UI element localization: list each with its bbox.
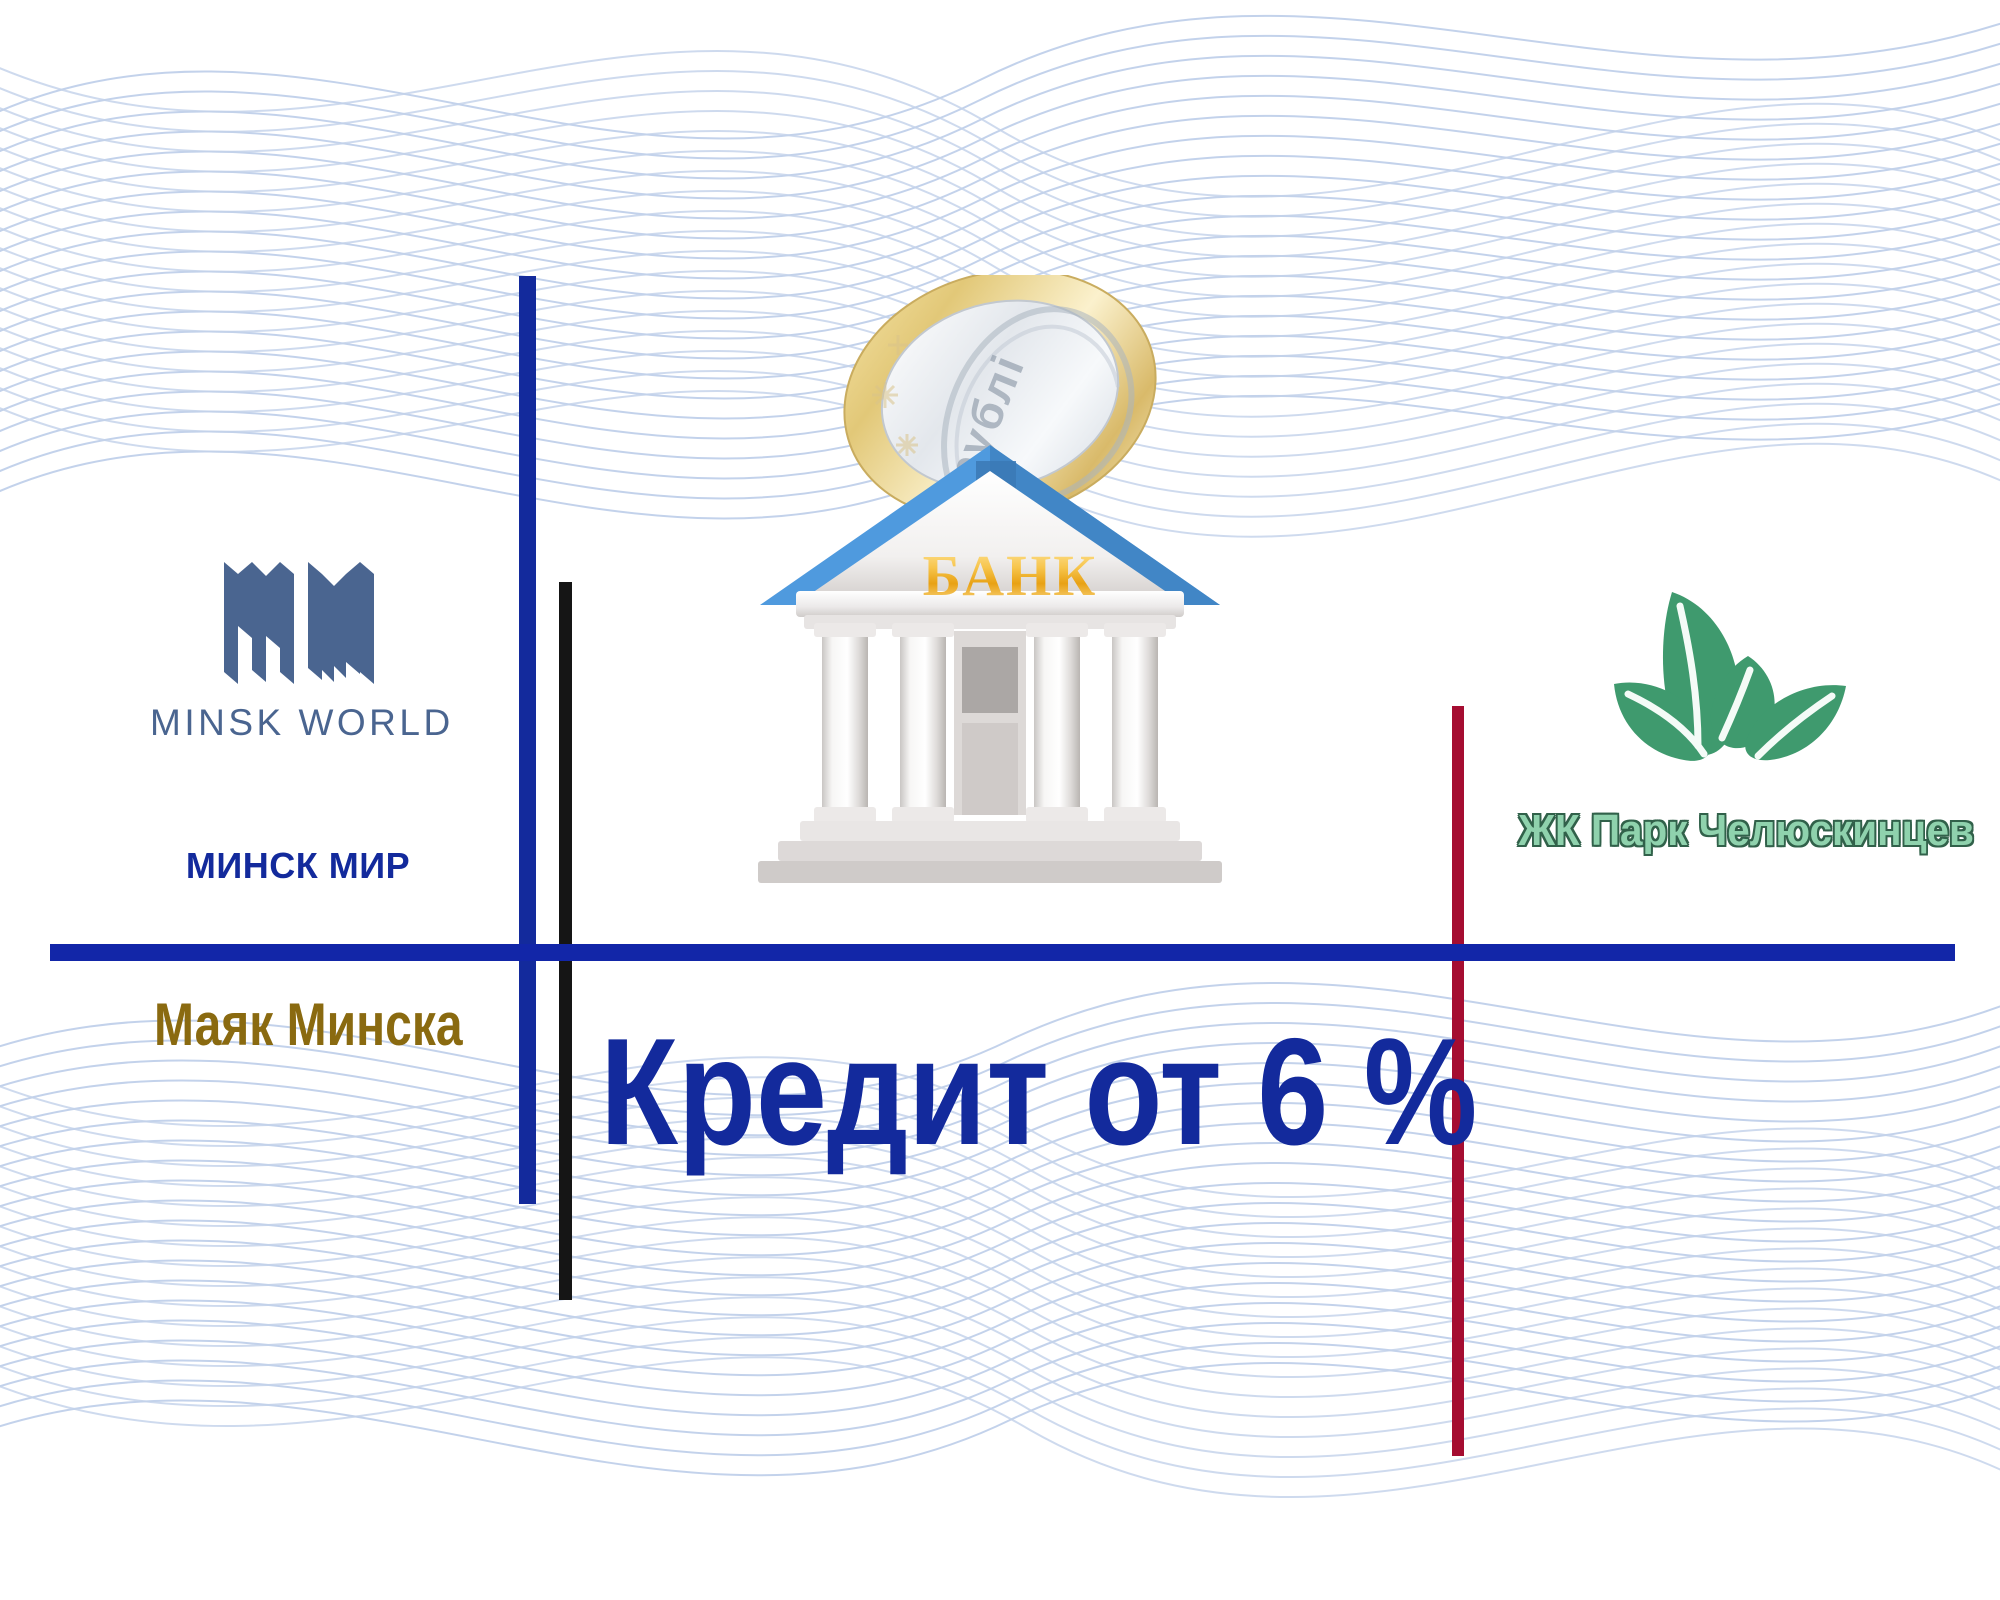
- park-chelyuskintsev-brand-block: ЖК Парк Челюскинцев: [1500, 570, 1960, 856]
- mw-monogram-icon: [214, 552, 386, 692]
- minsk-world-brand-block: MINSK WORLD: [150, 552, 450, 744]
- horizontal-divider-blue: [50, 944, 1955, 961]
- promo-banner: MINSK WORLD МИНСК МИР Маяк Минска: [0, 0, 2000, 1600]
- bank-building-with-coin-illustration: рублі: [700, 275, 1280, 895]
- minsk-mir-label: МИНСК МИР: [138, 845, 458, 887]
- bank-columns: [814, 623, 1166, 823]
- bank-steps: [758, 821, 1222, 883]
- vertical-divider-black: [559, 582, 572, 1300]
- headline-credit-rate: Кредит от 6 %: [600, 1016, 1322, 1168]
- park-chelyuskintsev-label: ЖК Парк Челюскинцев: [1518, 806, 1941, 856]
- green-leaves-icon: [1580, 570, 1880, 800]
- vertical-divider-blue: [519, 276, 536, 1204]
- minsk-world-wordmark: MINSK WORLD: [150, 702, 450, 744]
- mayak-minska-label: Маяк Минска: [154, 990, 426, 1059]
